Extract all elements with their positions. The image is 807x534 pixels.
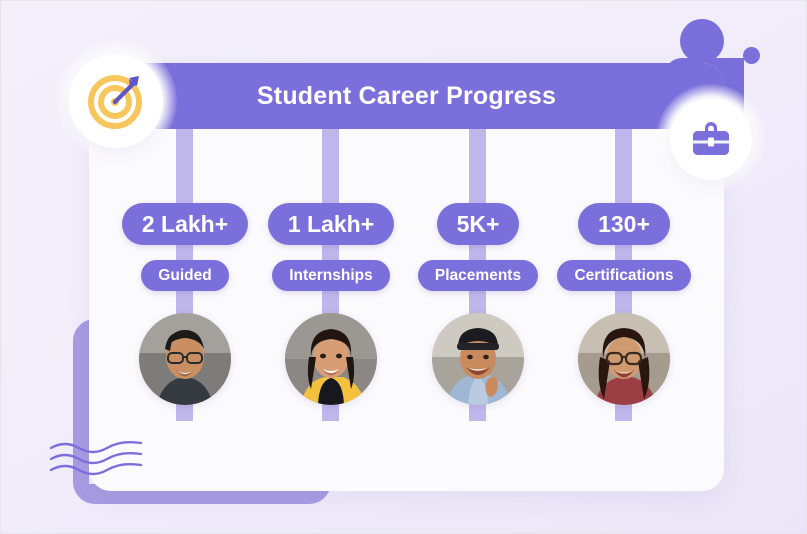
- progress-card: Student Career Progress 2 Lakh+ Guided: [89, 63, 724, 491]
- stat-columns: 2 Lakh+ Guided: [89, 63, 724, 491]
- stat-column-placements: 5K+ Placements: [399, 203, 557, 405]
- briefcase-badge[interactable]: [670, 98, 752, 180]
- stat-value-pill[interactable]: 2 Lakh+: [122, 203, 248, 245]
- student-avatar-4: [578, 313, 670, 405]
- stat-label-pill[interactable]: Certifications: [557, 260, 690, 291]
- student-avatar-2: [285, 313, 377, 405]
- stat-label-pill[interactable]: Guided: [141, 260, 228, 291]
- decorative-circle-large: [680, 19, 724, 63]
- stat-column-internships: 1 Lakh+ Internships: [252, 203, 410, 405]
- decorative-dot-small: [743, 47, 760, 64]
- infographic-canvas: Student Career Progress 2 Lakh+ Guided: [0, 0, 807, 534]
- student-avatar-3: [432, 313, 524, 405]
- student-avatar-1: [139, 313, 231, 405]
- decorative-wave-lines: [49, 439, 145, 479]
- target-badge[interactable]: [69, 54, 163, 148]
- target-dartboard-icon: [85, 70, 147, 132]
- briefcase-icon: [688, 116, 734, 162]
- stat-label-pill[interactable]: Internships: [272, 260, 390, 291]
- stat-value-pill[interactable]: 1 Lakh+: [268, 203, 394, 245]
- stat-value-pill[interactable]: 130+: [578, 203, 670, 245]
- stat-label-pill[interactable]: Placements: [418, 260, 538, 291]
- stat-column-certifications: 130+ Certifications: [545, 203, 703, 405]
- stat-value-pill[interactable]: 5K+: [437, 203, 520, 245]
- stat-column-guided: 2 Lakh+ Guided: [106, 203, 264, 405]
